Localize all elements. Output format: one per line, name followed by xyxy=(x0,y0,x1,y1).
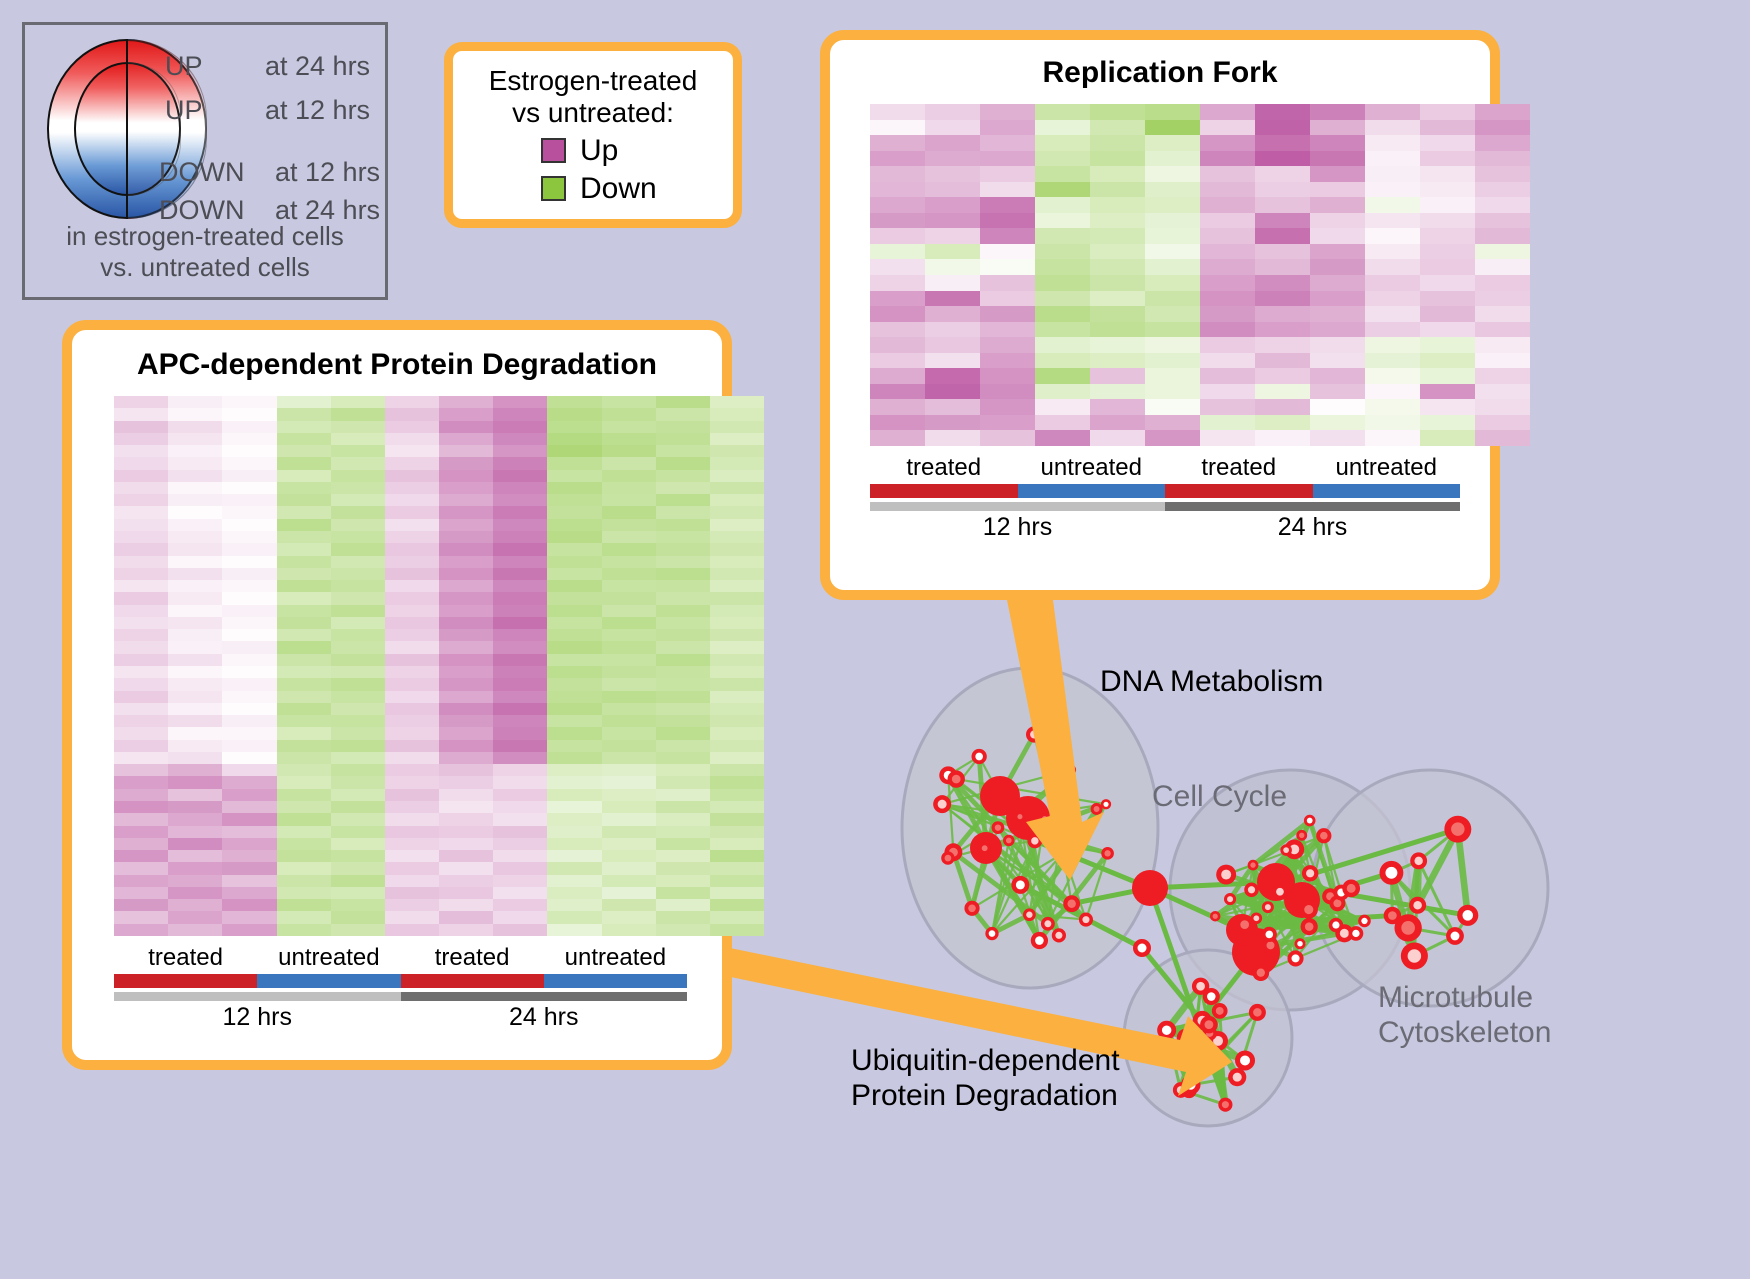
network-node[interactable] xyxy=(1015,812,1025,822)
heatmap-cell xyxy=(1255,368,1310,384)
heatmap-cell xyxy=(493,457,547,469)
network-node[interactable] xyxy=(1011,876,1029,894)
network-node[interactable] xyxy=(1101,847,1114,860)
heatmap-cell xyxy=(1310,228,1365,244)
network-node[interactable] xyxy=(1349,926,1364,941)
network-node[interactable] xyxy=(1280,844,1291,855)
network-node[interactable] xyxy=(1244,883,1259,898)
heatmap-cell xyxy=(168,605,222,617)
apc-condition-labels: treated untreated treated untreated xyxy=(114,944,687,972)
heatmap-cell xyxy=(114,801,168,813)
apc-cond-0: treated xyxy=(114,944,257,972)
heatmap-cell xyxy=(168,654,222,666)
heatmap-cell xyxy=(980,322,1035,338)
heatmap-cell xyxy=(1310,353,1365,369)
heatmap-cell xyxy=(439,592,493,604)
network-node[interactable] xyxy=(1444,816,1471,843)
heatmap-cell xyxy=(277,752,331,764)
heatmap-cell xyxy=(1475,151,1530,167)
heatmap-cell xyxy=(385,445,439,457)
heatmap-cell xyxy=(331,506,385,518)
legend-item-up: Up xyxy=(541,134,733,168)
heatmap-cell xyxy=(385,433,439,445)
network-node[interactable] xyxy=(1358,915,1371,928)
cluster-label-ubiquitin-degradation: Ubiquitin-dependent Protein Degradation xyxy=(851,1043,1120,1114)
heatmap-cell xyxy=(168,666,222,678)
heatmap-cell xyxy=(493,421,547,433)
heatmap-cell xyxy=(385,556,439,568)
network-node[interactable] xyxy=(1228,1068,1246,1086)
heatmap-cell xyxy=(547,543,601,555)
heatmap-cell xyxy=(114,482,168,494)
heatmap-cell xyxy=(385,801,439,813)
heatmap-cell xyxy=(114,813,168,825)
heatmap-cell xyxy=(277,924,331,936)
ubiq-line2: Protein Degradation xyxy=(851,1078,1120,1113)
heatmap-cell xyxy=(656,470,710,482)
heatmap-cell xyxy=(602,580,656,592)
network-node[interactable] xyxy=(1091,803,1103,815)
heatmap-cell xyxy=(168,740,222,752)
heatmap-cell xyxy=(602,654,656,666)
network-node[interactable] xyxy=(1003,835,1014,846)
network-node[interactable] xyxy=(1039,813,1050,824)
heatmap-cell xyxy=(1310,384,1365,400)
apc-title: APC-dependent Protein Degradation xyxy=(72,348,722,382)
heatmap-cell xyxy=(1255,228,1310,244)
heatmap-cell xyxy=(277,899,331,911)
heatmap-cell xyxy=(277,850,331,862)
heatmap-cell xyxy=(168,789,222,801)
heatmap-cell xyxy=(1090,213,1145,229)
heatmap-cell xyxy=(222,911,276,923)
heatmap-cell xyxy=(168,899,222,911)
heatmap-cell xyxy=(602,506,656,518)
heatmap-cell xyxy=(1200,306,1255,322)
heatmap-cell xyxy=(493,678,547,690)
rep-time-1: 24 hrs xyxy=(1165,513,1460,542)
heatmap-cell xyxy=(385,408,439,420)
heatmap-cell xyxy=(656,703,710,715)
network-node[interactable] xyxy=(1235,1050,1255,1070)
network-node[interactable] xyxy=(1065,764,1076,775)
heatmap-cell xyxy=(602,592,656,604)
heatmap-cell xyxy=(222,605,276,617)
heatmap-cell xyxy=(925,306,980,322)
heatmap-cell xyxy=(331,776,385,788)
heatmap-cell xyxy=(1035,104,1090,120)
network-node[interactable] xyxy=(964,901,979,916)
network-node[interactable] xyxy=(1212,1003,1228,1019)
heatmap-cell xyxy=(1035,399,1090,415)
network-node[interactable] xyxy=(1063,895,1080,912)
network-node[interactable] xyxy=(1101,799,1111,809)
heatmap-cell xyxy=(222,543,276,555)
heatmap-cell xyxy=(602,703,656,715)
network-node[interactable] xyxy=(1342,880,1360,898)
heatmap-cell xyxy=(114,727,168,739)
heatmap-cell xyxy=(1090,430,1145,446)
heatmap-cell xyxy=(168,457,222,469)
condition-seg-2 xyxy=(401,974,544,988)
heatmap-cell xyxy=(439,801,493,813)
heatmap-cell xyxy=(114,887,168,899)
heatmap-cell xyxy=(1035,213,1090,229)
heatmap-cell xyxy=(925,430,980,446)
network-node[interactable] xyxy=(1023,908,1036,921)
heatmap-cell xyxy=(439,654,493,666)
heatmap-cell xyxy=(602,899,656,911)
replication-condition-colorbar xyxy=(870,484,1460,498)
network-node[interactable] xyxy=(1052,928,1066,942)
heatmap-cell xyxy=(222,433,276,445)
heatmap-cell xyxy=(493,911,547,923)
network-node[interactable] xyxy=(1200,1016,1218,1034)
heatmap-cell xyxy=(114,531,168,543)
heatmap-cell xyxy=(385,494,439,506)
heatmap-cell xyxy=(493,568,547,580)
heatmap-cell xyxy=(547,421,601,433)
heatmap-cell xyxy=(493,580,547,592)
heatmap-cell xyxy=(656,666,710,678)
heatmap-cell xyxy=(656,445,710,457)
heatmap-cell xyxy=(1420,120,1475,136)
heatmap-cell xyxy=(493,813,547,825)
heatmap-cell xyxy=(385,666,439,678)
ubiq-line1: Ubiquitin-dependent xyxy=(851,1043,1120,1078)
heatmap-cell xyxy=(656,801,710,813)
heatmap-cell xyxy=(1255,399,1310,415)
heatmap-cell xyxy=(1200,104,1255,120)
heatmap-cell xyxy=(925,151,980,167)
network-node[interactable] xyxy=(1181,1075,1200,1094)
heatmap-cell xyxy=(980,182,1035,198)
heatmap-cell xyxy=(1090,415,1145,431)
heatmap-cell xyxy=(222,617,276,629)
network-node[interactable] xyxy=(933,795,951,813)
heatmap-cell xyxy=(1365,275,1420,291)
heatmap-cell xyxy=(656,813,710,825)
heatmap-cell xyxy=(602,629,656,641)
heatmap-cell xyxy=(1365,151,1420,167)
heatmap-cell xyxy=(547,580,601,592)
heatmap-cell xyxy=(277,641,331,653)
heatmap-cell xyxy=(277,396,331,408)
heatmap-cell xyxy=(114,457,168,469)
network-node[interactable] xyxy=(948,770,965,787)
condition-seg-3 xyxy=(544,974,687,988)
network-node[interactable] xyxy=(1249,1004,1266,1021)
heatmap-cell xyxy=(277,911,331,923)
heatmap-cell xyxy=(114,764,168,776)
heatmap-cell xyxy=(547,506,601,518)
heatmap-cell xyxy=(331,556,385,568)
heatmap-cell xyxy=(1475,197,1530,213)
heatmap-cell xyxy=(870,415,925,431)
apc-time-0: 12 hrs xyxy=(114,1003,401,1032)
heatmap-cell xyxy=(222,875,276,887)
heatmap-cell xyxy=(1475,353,1530,369)
network-node[interactable] xyxy=(1251,912,1263,924)
heatmap-cell xyxy=(1035,135,1090,151)
network-node[interactable] xyxy=(1218,1098,1232,1112)
network-node[interactable] xyxy=(1446,927,1464,945)
network-node[interactable] xyxy=(1203,988,1220,1005)
heatmap-cell xyxy=(1420,259,1475,275)
network-node[interactable] xyxy=(1224,893,1236,905)
network-node[interactable] xyxy=(1027,833,1042,848)
heatmap-cell xyxy=(870,275,925,291)
heatmap-cell xyxy=(710,421,764,433)
heatmap-cell xyxy=(1365,259,1420,275)
heatmap-cell xyxy=(277,531,331,543)
timepoint-seg-0 xyxy=(870,502,1165,511)
heatmap-cell xyxy=(439,531,493,543)
heatmap-cell xyxy=(656,911,710,923)
heatmap-cell xyxy=(1420,399,1475,415)
network-node[interactable] xyxy=(979,842,991,854)
heatmap-cell xyxy=(439,629,493,641)
network-node[interactable] xyxy=(985,927,998,940)
heatmap-cell xyxy=(547,592,601,604)
network-node[interactable] xyxy=(1316,828,1331,843)
heatmap-cell xyxy=(925,291,980,307)
heatmap-cell xyxy=(547,568,601,580)
heatmap-cell xyxy=(493,789,547,801)
heatmap-cell xyxy=(710,715,764,727)
replication-condition-labels: treated untreated treated untreated xyxy=(870,454,1460,482)
replication-fork-heatmap xyxy=(870,104,1530,446)
heatmap-cell xyxy=(493,494,547,506)
heatmap-cell xyxy=(870,182,925,198)
heatmap-cell xyxy=(1200,399,1255,415)
network-node[interactable] xyxy=(1262,927,1277,942)
direction-legend-box: UP at 24 hrs UP at 12 hrs DOWN at 12 hrs… xyxy=(22,22,388,300)
network-node[interactable] xyxy=(1210,911,1221,922)
heatmap-cell xyxy=(1035,275,1090,291)
network-node[interactable] xyxy=(1401,942,1428,969)
heatmap-cell xyxy=(710,752,764,764)
heatmap-cell xyxy=(493,899,547,911)
replication-timepoint-labels: 12 hrs 24 hrs xyxy=(870,513,1460,542)
heatmap-cell xyxy=(1090,182,1145,198)
heatmap-cell xyxy=(656,764,710,776)
network-node[interactable] xyxy=(1133,939,1151,957)
network-node[interactable] xyxy=(1379,861,1403,885)
heatmap-cell xyxy=(547,862,601,874)
network-node[interactable] xyxy=(1302,865,1318,881)
heatmap-cell xyxy=(870,197,925,213)
heatmap-cell xyxy=(439,641,493,653)
heatmap-cell xyxy=(168,556,222,568)
heatmap-cell xyxy=(1090,151,1145,167)
heatmap-cell xyxy=(114,641,168,653)
heatmap-cell xyxy=(602,408,656,420)
network-node[interactable] xyxy=(1262,901,1274,913)
heatmap-cell xyxy=(114,470,168,482)
heatmap-cell xyxy=(439,666,493,678)
network-node[interactable] xyxy=(1296,830,1307,841)
heatmap-cell xyxy=(222,494,276,506)
heatmap-cell xyxy=(710,764,764,776)
rep-cond-0: treated xyxy=(870,454,1018,482)
heatmap-cell xyxy=(980,368,1035,384)
heatmap-cell xyxy=(925,399,980,415)
network-node[interactable] xyxy=(1177,1028,1197,1048)
heatmap-cell xyxy=(870,259,925,275)
heatmap-cell xyxy=(980,120,1035,136)
heatmap-cell xyxy=(1035,182,1090,198)
heatmap-cell xyxy=(439,838,493,850)
network-node[interactable] xyxy=(1216,865,1236,885)
network-node[interactable] xyxy=(1287,950,1303,966)
heatmap-cell xyxy=(222,629,276,641)
network-node[interactable] xyxy=(1252,964,1269,981)
heatmap-cell xyxy=(1255,135,1310,151)
heatmap-cell xyxy=(1255,104,1310,120)
network-node[interactable] xyxy=(1041,917,1055,931)
heatmap-cell xyxy=(1145,415,1200,431)
network-node[interactable] xyxy=(1410,852,1427,869)
heatmap-cell xyxy=(439,396,493,408)
heatmap-cell xyxy=(331,715,385,727)
heatmap-cell xyxy=(1200,368,1255,384)
heatmap-cell xyxy=(331,482,385,494)
heatmap-cell xyxy=(222,801,276,813)
heatmap-cell xyxy=(277,666,331,678)
network-node[interactable] xyxy=(1079,913,1093,927)
heatmap-cell xyxy=(114,789,168,801)
heatmap-cell xyxy=(385,789,439,801)
heatmap-cell xyxy=(1310,244,1365,260)
heatmap-cell xyxy=(870,213,925,229)
heatmap-cell xyxy=(331,740,385,752)
heatmap-cell xyxy=(1420,430,1475,446)
heatmap-cell xyxy=(222,826,276,838)
heatmap-cell xyxy=(710,691,764,703)
heatmap-cell xyxy=(1310,104,1365,120)
heatmap-cell xyxy=(1365,384,1420,400)
heatmap-cell xyxy=(925,244,980,260)
heatmap-cell xyxy=(710,654,764,666)
heatmap-cell xyxy=(1475,182,1530,198)
network-node[interactable] xyxy=(1329,918,1343,932)
network-node[interactable] xyxy=(1056,845,1071,860)
heatmap-cell xyxy=(1035,368,1090,384)
heatmap-cell xyxy=(331,691,385,703)
heatmap-cell xyxy=(1475,322,1530,338)
heatmap-cell xyxy=(980,430,1035,446)
heatmap-cell xyxy=(439,433,493,445)
heatmap-cell xyxy=(385,727,439,739)
heatmap-cell xyxy=(439,850,493,862)
heatmap-cell xyxy=(493,666,547,678)
heatmap-cell xyxy=(1365,244,1420,260)
heatmap-cell xyxy=(331,519,385,531)
heatmap-cell xyxy=(277,764,331,776)
heatmap-cell xyxy=(656,678,710,690)
heatmap-cell xyxy=(493,433,547,445)
heatmap-cell xyxy=(710,494,764,506)
network-node[interactable] xyxy=(1301,918,1318,935)
heatmap-cell xyxy=(980,415,1035,431)
heatmap-cell xyxy=(439,740,493,752)
network-node[interactable] xyxy=(1132,870,1168,906)
heatmap-cell xyxy=(1090,120,1145,136)
heatmap-cell xyxy=(870,120,925,136)
heatmap-cell xyxy=(1200,291,1255,307)
heatmap-cell xyxy=(439,482,493,494)
heatmap-cell xyxy=(331,911,385,923)
heatmap-cell xyxy=(710,666,764,678)
heatmap-cell xyxy=(114,678,168,690)
network-node[interactable] xyxy=(1248,860,1259,871)
heatmap-cell xyxy=(980,259,1035,275)
heatmap-cell xyxy=(114,396,168,408)
heatmap-cell xyxy=(1365,197,1420,213)
heatmap-cell xyxy=(222,396,276,408)
heatmap-cell xyxy=(710,911,764,923)
heatmap-cell xyxy=(168,887,222,899)
heatmap-cell xyxy=(1255,337,1310,353)
network-node[interactable] xyxy=(972,749,987,764)
heatmap-cell xyxy=(925,120,980,136)
heatmap-cell xyxy=(925,337,980,353)
heatmap-cell xyxy=(277,568,331,580)
heatmap-cell xyxy=(1255,244,1310,260)
heatmap-cell xyxy=(1145,430,1200,446)
network-node[interactable] xyxy=(941,851,954,864)
network-node[interactable] xyxy=(1294,938,1305,949)
heatmap-cell xyxy=(277,433,331,445)
heatmap-cell xyxy=(439,789,493,801)
network-node[interactable] xyxy=(1409,897,1426,914)
heatmap-cell xyxy=(602,457,656,469)
heatmap-cell xyxy=(710,396,764,408)
network-node[interactable] xyxy=(1157,1021,1176,1040)
network-node[interactable] xyxy=(1031,932,1048,949)
heatmap-cell xyxy=(547,641,601,653)
network-node[interactable] xyxy=(1026,726,1042,742)
network-node[interactable] xyxy=(1304,815,1316,827)
condition-seg-0 xyxy=(114,974,257,988)
network-node[interactable] xyxy=(1394,914,1421,941)
heatmap-cell xyxy=(222,850,276,862)
heatmap-cell xyxy=(222,887,276,899)
heatmap-cell xyxy=(114,776,168,788)
heatmap-cell xyxy=(331,752,385,764)
heatmap-cell xyxy=(277,862,331,874)
network-node[interactable] xyxy=(1272,884,1288,900)
network-node[interactable] xyxy=(1457,905,1478,926)
down-color-swatch xyxy=(541,176,566,201)
heatmap-cell xyxy=(656,433,710,445)
heatmap-cell xyxy=(385,826,439,838)
heatmap-cell xyxy=(114,691,168,703)
heatmap-cell xyxy=(168,678,222,690)
heatmap-cell xyxy=(385,813,439,825)
heatmap-cell xyxy=(602,641,656,653)
heatmap-cell xyxy=(1200,322,1255,338)
heatmap-cell xyxy=(385,421,439,433)
network-node[interactable] xyxy=(992,821,1005,834)
heatmap-cell xyxy=(870,151,925,167)
network-node[interactable] xyxy=(1300,900,1318,918)
legend-dir-1: UP xyxy=(165,95,203,126)
heatmap-cell xyxy=(656,691,710,703)
heatmap-cell xyxy=(1475,430,1530,446)
heatmap-cell xyxy=(1365,353,1420,369)
